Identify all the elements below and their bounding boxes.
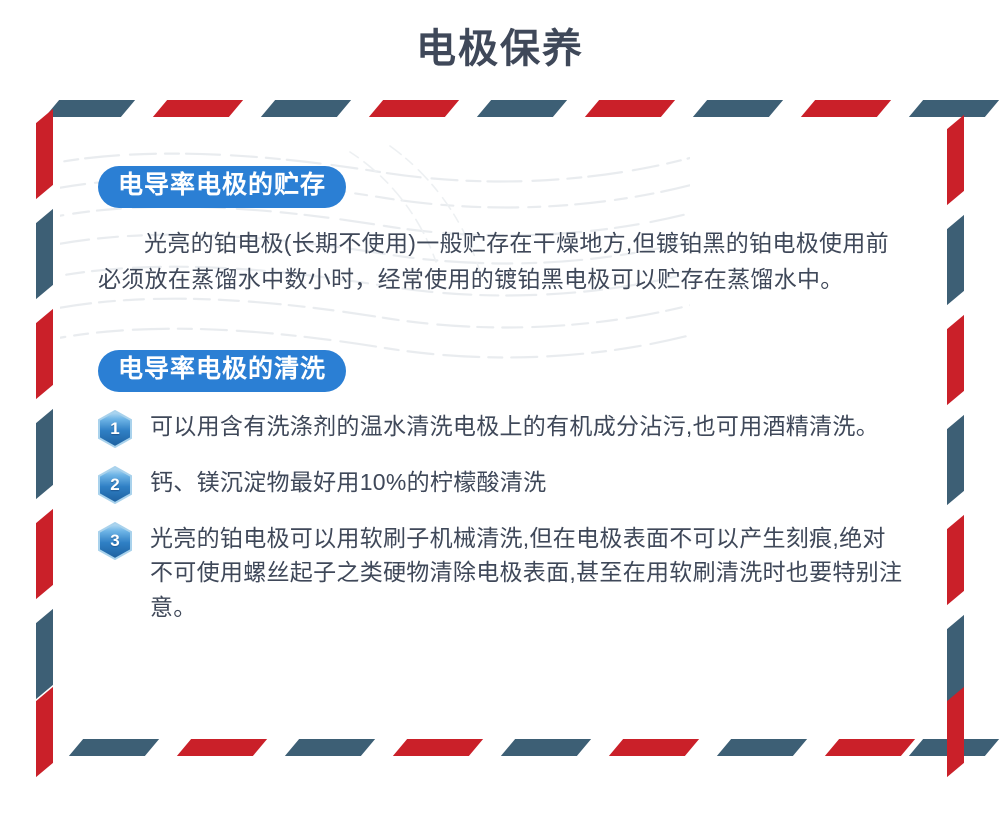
border-stripe-top-7 xyxy=(693,100,783,117)
list-item: 1 可以用含有洗涤剂的温水清洗电极上的有机成分沾污,也可用酒精清洗。 xyxy=(98,408,906,448)
border-stripe-left-4 xyxy=(36,409,53,499)
border-stripe-right-2 xyxy=(947,215,964,305)
section-storage: 电导率电极的贮存 光亮的铂电极(长期不使用)一般贮存在干燥地方,但镀铂黑的铂电极… xyxy=(98,166,906,298)
cleaning-steps-list: 1 可以用含有洗涤剂的温水清洗电极上的有机成分沾污,也可用酒精清洗。 xyxy=(98,408,906,625)
hexagon-number-label: 2 xyxy=(98,466,132,504)
section-badge-storage: 电导率电极的贮存 xyxy=(98,166,346,208)
border-stripe-left-1 xyxy=(36,109,53,199)
section-badge-cleaning: 电导率电极的清洗 xyxy=(98,350,346,392)
border-stripe-right-1 xyxy=(947,115,964,205)
border-stripe-bottom-7 xyxy=(717,739,807,756)
border-stripe-bottom-6 xyxy=(609,739,699,756)
border-stripe-top-2 xyxy=(153,100,243,117)
border-stripe-left-5 xyxy=(36,509,53,599)
storage-paragraph: 光亮的铂电极(长期不使用)一般贮存在干燥地方,但镀铂黑的铂电极使用前必须放在蒸馏… xyxy=(98,226,906,297)
border-stripe-right-3 xyxy=(947,315,964,405)
border-stripe-left-7 xyxy=(36,687,53,777)
section-cleaning: 电导率电极的清洗 xyxy=(98,350,906,625)
hexagon-number-icon: 1 xyxy=(98,410,132,448)
border-stripe-left-6 xyxy=(36,609,53,699)
hexagon-number-label: 3 xyxy=(98,522,132,560)
envelope-inner-panel: 电导率电极的贮存 光亮的铂电极(长期不使用)一般贮存在干燥地方,但镀铂黑的铂电极… xyxy=(60,124,940,732)
border-stripe-right-4 xyxy=(947,415,964,505)
border-stripe-left-3 xyxy=(36,309,53,399)
border-stripe-top-8 xyxy=(801,100,891,117)
envelope-border: 电导率电极的贮存 光亮的铂电极(长期不使用)一般贮存在干燥地方,但镀铂黑的铂电极… xyxy=(28,92,972,764)
border-stripe-bottom-2 xyxy=(177,739,267,756)
border-stripe-top-5 xyxy=(477,100,567,117)
list-item-text: 光亮的铂电极可以用软刷子机械清洗,但在电极表面不可以产生刻痕,绝对不可使用螺丝起… xyxy=(150,520,906,625)
hexagon-number-icon: 2 xyxy=(98,466,132,504)
border-stripe-bottom-5 xyxy=(501,739,591,756)
border-stripe-bottom-1 xyxy=(69,739,159,756)
hexagon-number-label: 1 xyxy=(98,410,132,448)
border-stripe-right-5 xyxy=(947,515,964,605)
border-stripe-right-7 xyxy=(947,687,964,777)
section-spacer xyxy=(98,304,906,350)
border-stripe-top-1 xyxy=(45,100,135,117)
page-title: 电极保养 xyxy=(0,0,1000,78)
border-stripe-top-3 xyxy=(261,100,351,117)
list-item-text: 钙、镁沉淀物最好用10%的柠檬酸清洗 xyxy=(150,464,546,500)
hexagon-number-icon: 3 xyxy=(98,522,132,560)
border-stripe-bottom-8 xyxy=(825,739,915,756)
border-stripe-bottom-4 xyxy=(393,739,483,756)
border-stripe-top-6 xyxy=(585,100,675,117)
border-stripe-bottom-3 xyxy=(285,739,375,756)
list-item: 2 钙、镁沉淀物最好用10%的柠檬酸清洗 xyxy=(98,464,906,504)
list-item-text: 可以用含有洗涤剂的温水清洗电极上的有机成分沾污,也可用酒精清洗。 xyxy=(150,408,879,444)
list-item: 3 光亮的铂电极可以用软刷子机械清洗,但在电极表面不可以产生刻痕,绝对不可使用螺… xyxy=(98,520,906,625)
border-stripe-top-9 xyxy=(909,100,999,117)
border-stripe-left-2 xyxy=(36,209,53,299)
border-stripe-top-4 xyxy=(369,100,459,117)
document-content: 电导率电极的贮存 光亮的铂电极(长期不使用)一般贮存在干燥地方,但镀铂黑的铂电极… xyxy=(98,166,906,640)
